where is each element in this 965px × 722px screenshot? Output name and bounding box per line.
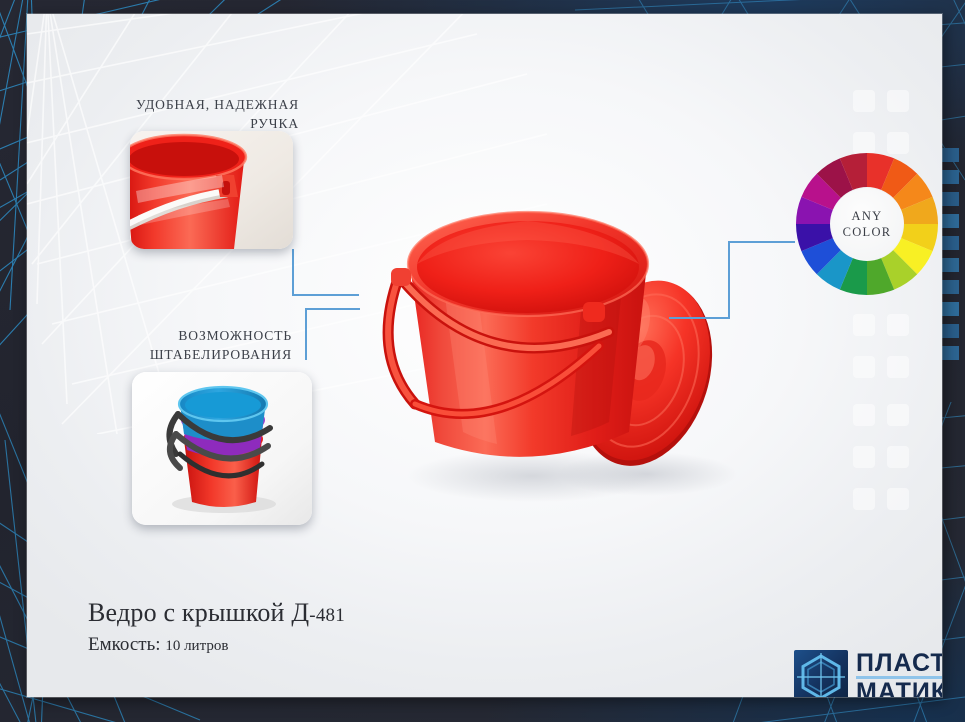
decor-square-column [941, 148, 961, 398]
product-title-main: Ведро с крышкой Д [88, 598, 309, 627]
callout-caption-stacking: ВОЗМОЖНОСТЬ ШТАБЕЛИРОВАНИЯ [82, 327, 292, 364]
product-title-code: -481 [309, 605, 345, 626]
content-card: УДОБНАЯ, НАДЕЖНАЯ РУЧКА [27, 14, 942, 697]
decor-square [941, 324, 959, 338]
callout-image-stacking [132, 372, 312, 525]
logo-line-1: ПЛАСТ [856, 651, 942, 675]
callout-caption-handle: УДОБНАЯ, НАДЕЖНАЯ РУЧКА [87, 96, 299, 133]
decor-square [941, 280, 959, 294]
logo-wordmark: ПЛАСТ МАТИКА [856, 651, 942, 698]
logo-line-2: МАТИКА [856, 680, 942, 698]
decor-square [941, 192, 959, 206]
color-wheel-label-any: ANY [852, 210, 883, 223]
color-wheel-label-color: COLOR [843, 226, 892, 239]
capacity-label: Емкость: [88, 634, 161, 655]
decor-square [941, 170, 959, 184]
hero-product-image [347, 164, 747, 524]
hexagon-cube-mark-icon [793, 649, 849, 697]
company-logo: ПЛАСТ МАТИКА [793, 646, 942, 697]
product-title: Ведро с крышкой Д-481 [88, 598, 345, 628]
decor-square [941, 346, 959, 360]
decor-square [941, 258, 959, 272]
slide-root: УДОБНАЯ, НАДЕЖНАЯ РУЧКА [0, 0, 965, 722]
decor-square [941, 236, 959, 250]
color-wheel-hub: ANY COLOR [831, 188, 903, 260]
color-wheel: ANY COLOR [795, 152, 939, 296]
decor-square [941, 148, 959, 162]
capacity-value: 10 литров [165, 638, 228, 654]
decor-square [941, 214, 959, 228]
decor-square [941, 302, 959, 316]
callout-image-handle [130, 131, 293, 249]
product-capacity: Емкость: 10 литров [88, 634, 228, 656]
